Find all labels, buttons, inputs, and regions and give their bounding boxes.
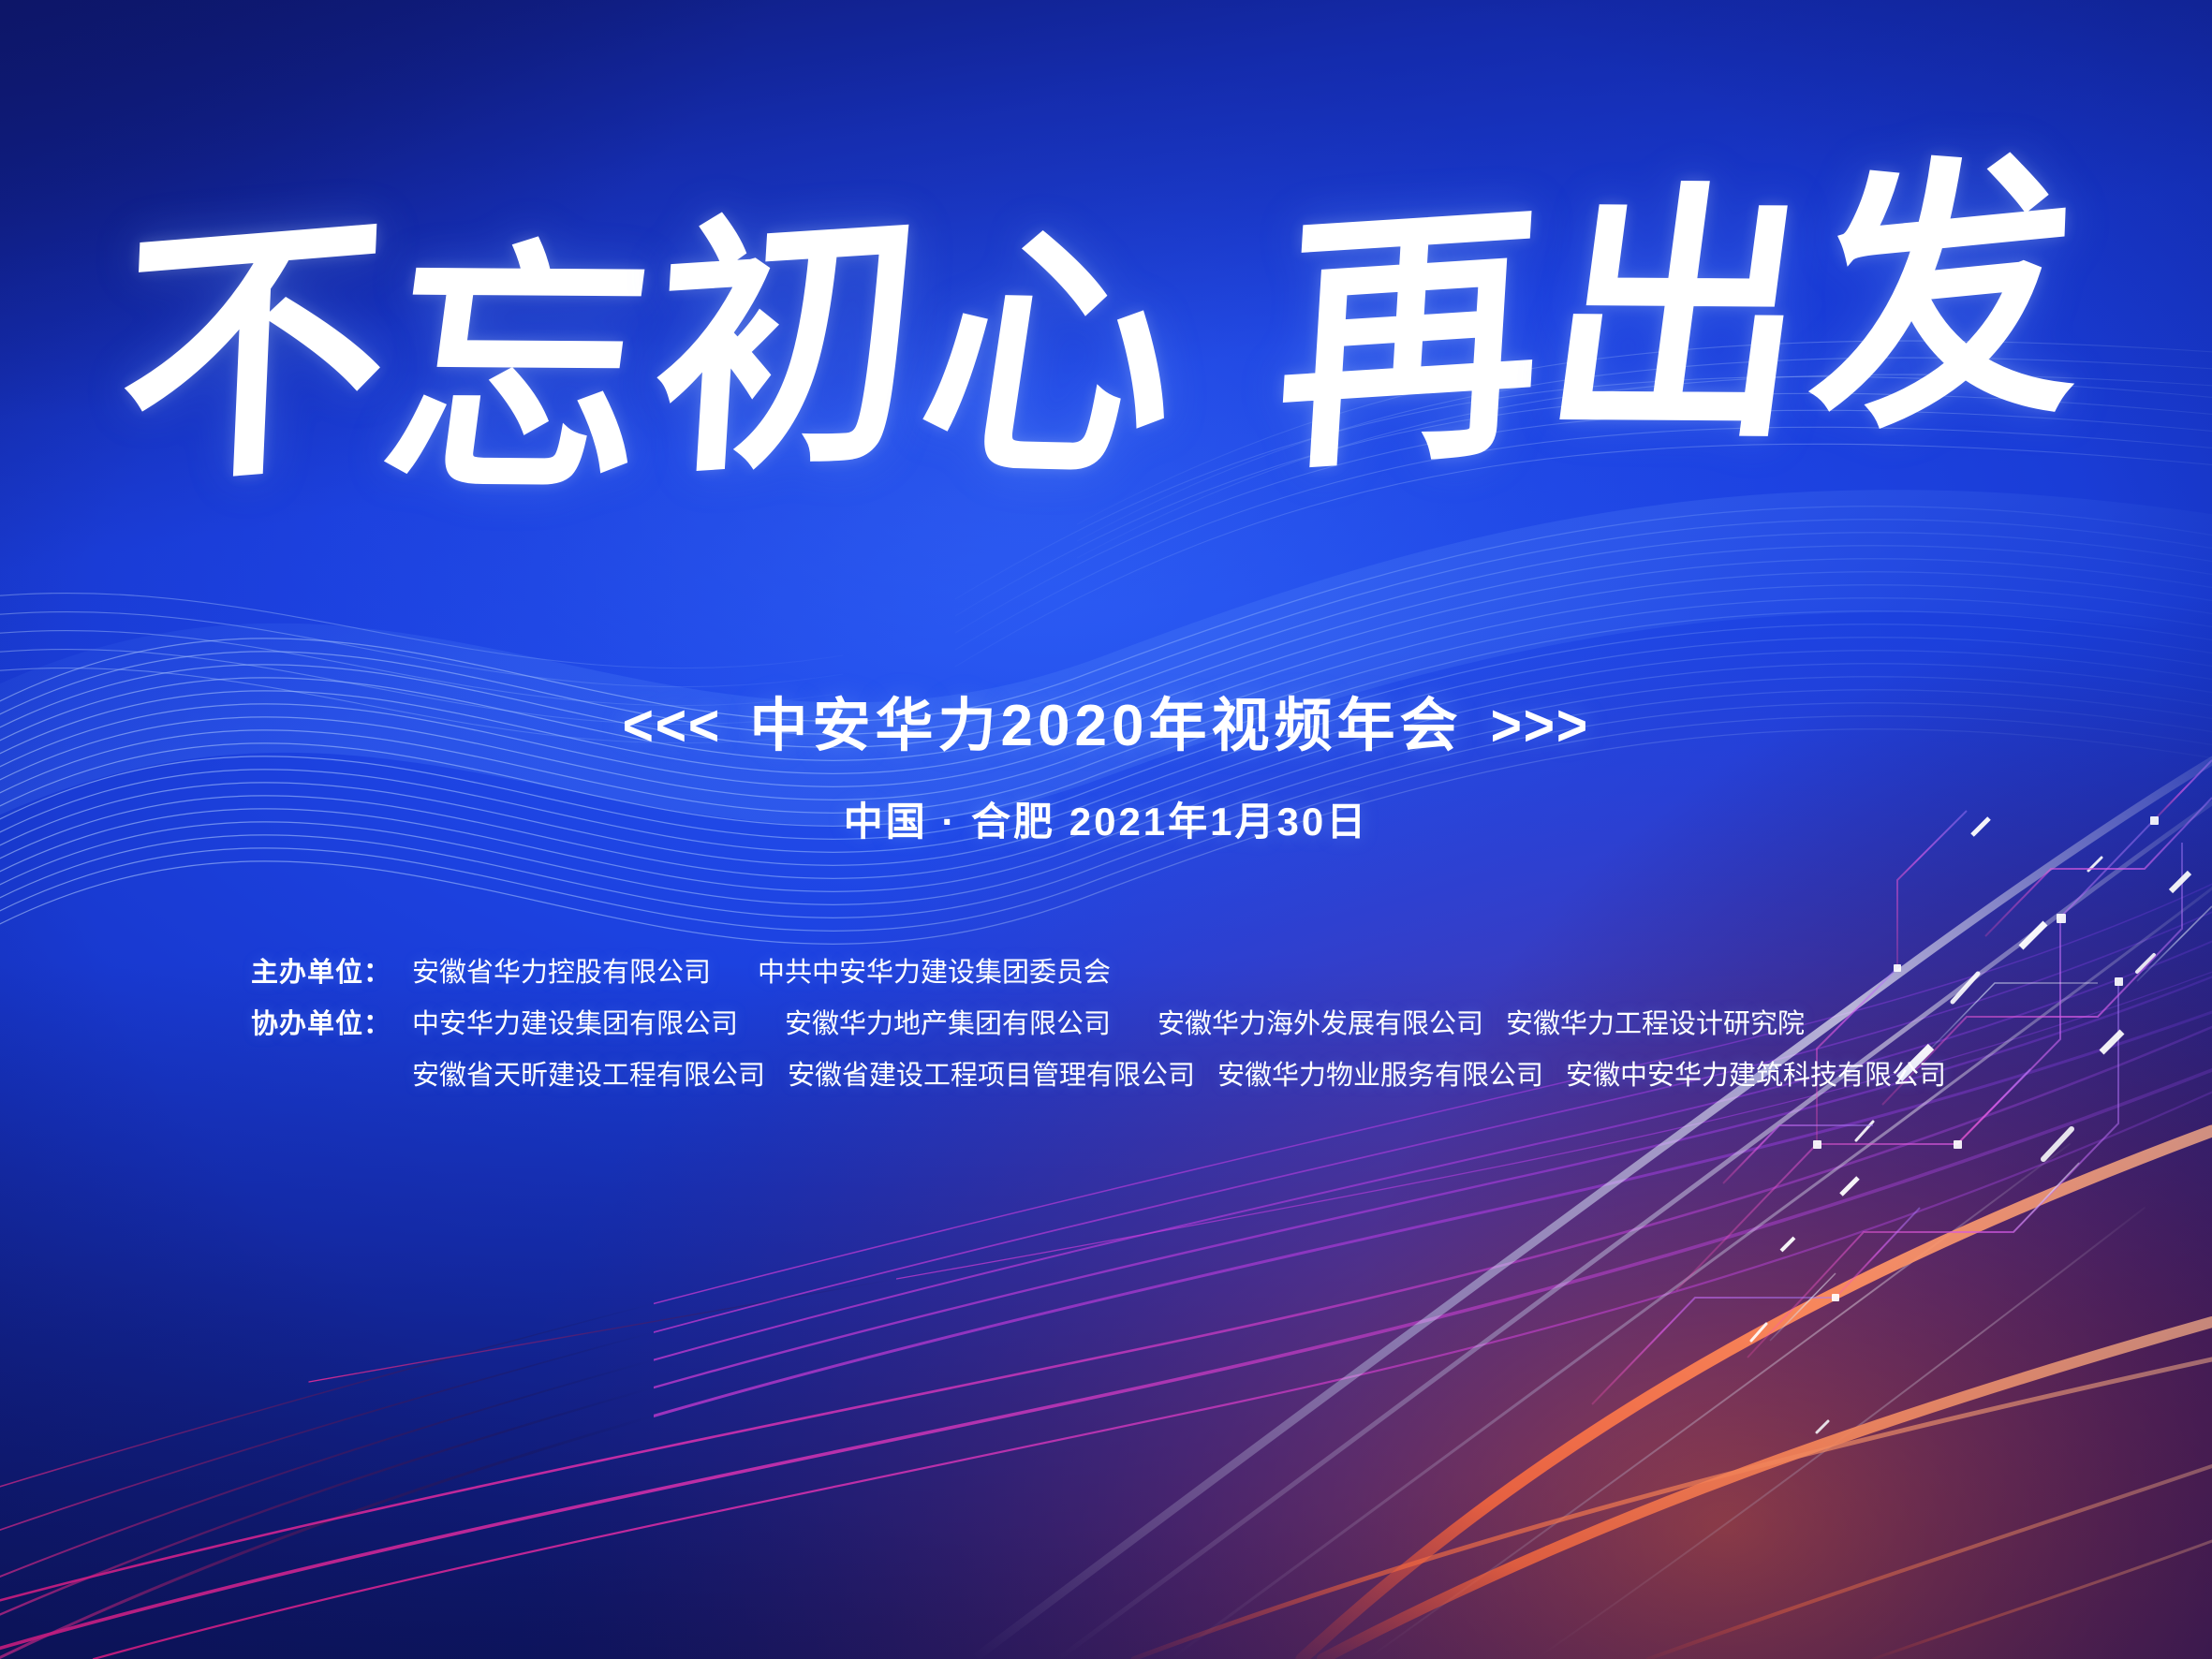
calligraphy-char: 心 [907, 222, 1211, 492]
cohost-item: 中安华力建设集团有限公司 [412, 999, 738, 1050]
host-label: 主办单位： [251, 947, 412, 999]
calligraphy-phrase-2: 再出发 [1273, 190, 2097, 463]
calligraphy-phrase-1: 不忘初心 [115, 214, 1206, 495]
chevron-right-icon: >>> [1491, 693, 1589, 759]
calligraphy-char: 出 [1533, 182, 1839, 452]
calligraphy-headline: 不忘初心再出发 [0, 186, 2212, 499]
cohost-item: 安徽华力工程设计研究院 [1506, 999, 1805, 1050]
sponsor-row-cohost-2: 安徽省天昕建设工程有限公司安徽省建设工程项目管理有限公司安徽华力物业服务有限公司… [251, 1050, 1946, 1102]
chevron-left-icon: <<< [622, 693, 720, 759]
calligraphy-char: 发 [1806, 143, 2098, 450]
cohost-item: 安徽中安华力建筑科技有限公司 [1566, 1050, 1946, 1102]
cohost-label: 协办单位： [251, 999, 412, 1050]
cohost-item: 安徽华力海外发展有限公司 [1158, 999, 1483, 1050]
host-item: 中共中安华力建设集团委员会 [758, 947, 1111, 999]
calligraphy-spacer [1186, 425, 1276, 428]
sponsors-block: 主办单位：安徽省华力控股有限公司中共中安华力建设集团委员会 协办单位：中安华力建… [251, 947, 1946, 1102]
cohost-item: 安徽省天昕建设工程有限公司 [412, 1050, 765, 1102]
sponsor-row-host: 主办单位：安徽省华力控股有限公司中共中安华力建设集团委员会 [251, 947, 1946, 999]
host-item: 安徽省华力控股有限公司 [412, 947, 711, 999]
calligraphy-char: 忘 [373, 240, 678, 507]
calligraphy-char: 再 [1272, 195, 1564, 485]
sponsor-row-cohost-1: 协办单位：中安华力建设集团有限公司安徽华力地产集团有限公司安徽华力海外发展有限公… [251, 999, 1946, 1050]
cohost-item: 安徽华力物业服务有限公司 [1217, 1050, 1543, 1102]
cohost-item: 安徽华力地产集团有限公司 [785, 999, 1111, 1050]
calligraphy-char: 不 [115, 204, 408, 502]
event-title-line: <<<中安华力2020年视频年会>>> [0, 678, 2212, 762]
event-location-date: 中国 · 合肥 2021年1月30日 [0, 790, 2212, 847]
event-title-text: 中安华力2020年视频年会 [750, 694, 1463, 758]
poster-stage: 不忘初心再出发 <<<中安华力2020年视频年会>>> 中国 · 合肥 2021… [0, 0, 2212, 1659]
calligraphy-char: 初 [647, 202, 941, 490]
cohost-item: 安徽省建设工程项目管理有限公司 [788, 1050, 1195, 1102]
